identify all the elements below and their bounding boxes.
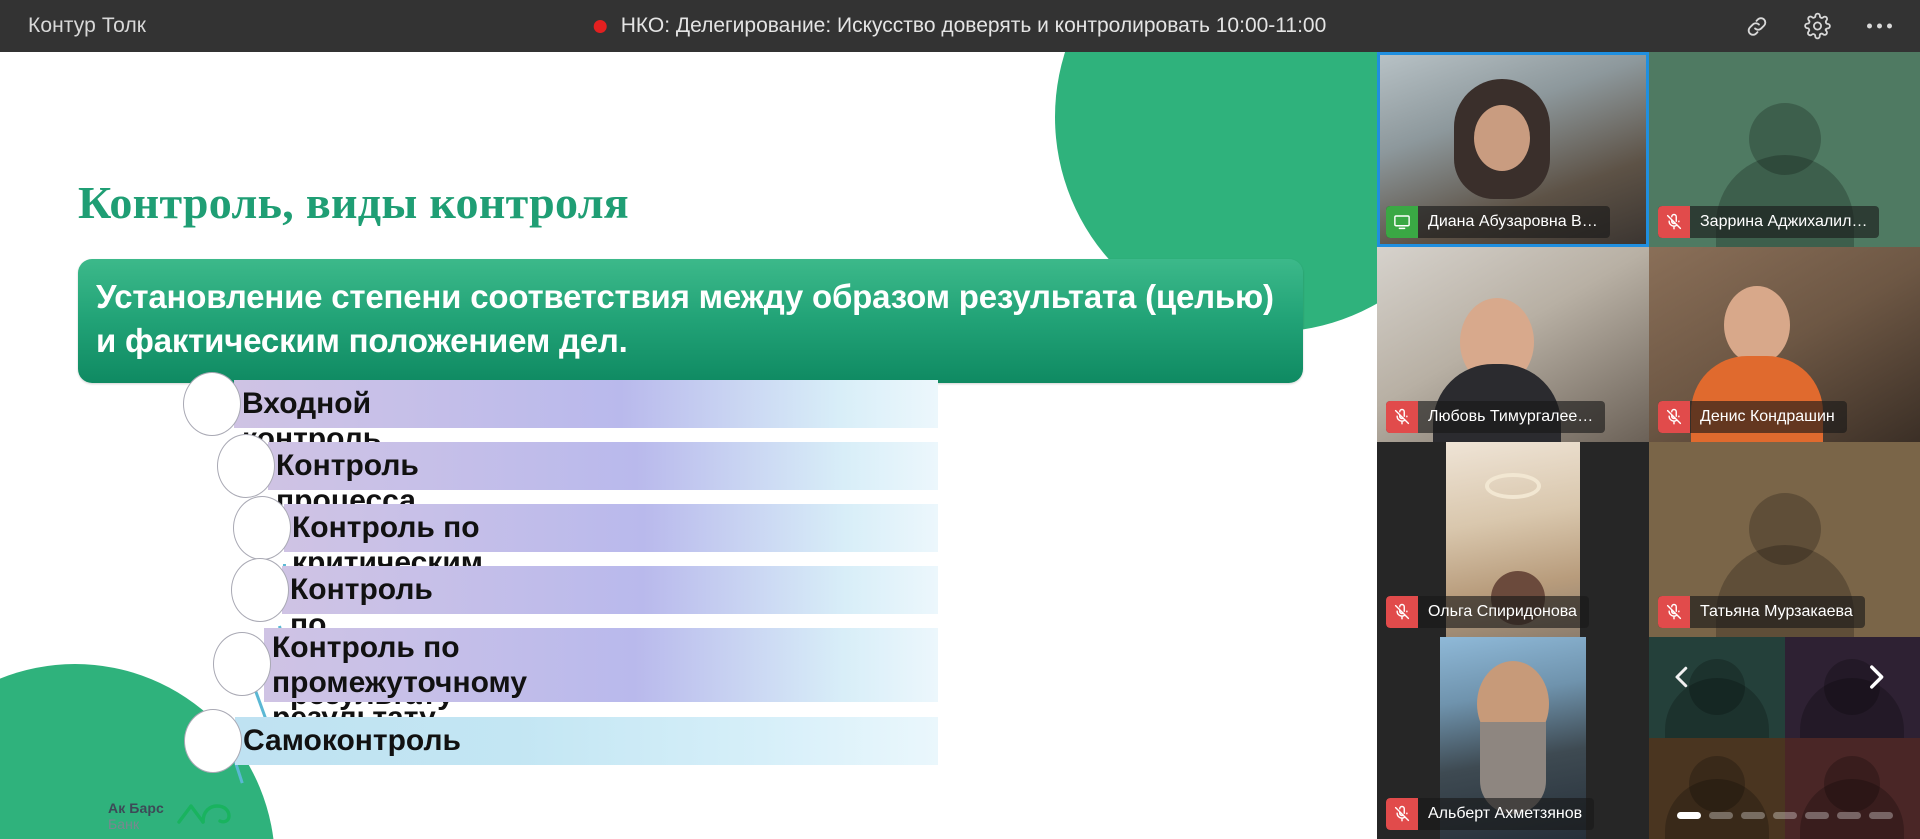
participant-tile[interactable]: Денис Кондрашин [1649,247,1920,442]
app-title: Контур Толк [28,14,146,38]
prev-page-button[interactable] [1659,654,1705,700]
participant-name: Альберт Ахметзянов [1418,805,1594,823]
akbars-bank-logo: Ак Барс Банк [108,801,232,832]
avatar-placeholder-icon [1649,738,1785,839]
participant-name: Татьяна Мурзакаева [1690,603,1865,621]
participant-name: Диана Абузаровна В… [1418,213,1610,231]
list-item-marker [233,496,291,560]
participant-namebar: Татьяна Мурзакаева [1658,596,1865,628]
participant-tile[interactable]: Ольга Спиридонова [1377,442,1649,637]
list-item-label: Самоконтроль [243,723,461,758]
mic-muted-icon [1386,401,1418,433]
participant-namebar: Денис Кондрашин [1658,401,1847,433]
chevron-left-icon [1667,662,1697,692]
page-dot[interactable] [1773,812,1797,819]
mic-muted-icon [1386,798,1418,830]
next-page-button[interactable] [1853,654,1899,700]
participant-name: Заррина Аджихалил… [1690,213,1879,231]
logo-line-2: Банк [108,817,164,832]
control-types-list: Входной контроль Контроль процесса Контр… [0,392,1377,832]
recording-dot-icon [594,20,607,33]
participant-tile[interactable]: Татьяна Мурзакаева [1649,442,1920,637]
akbars-swoosh-icon [176,801,232,832]
participant-name: Денис Кондрашин [1690,408,1847,426]
list-item-marker [184,709,242,773]
logo-line-1: Ак Барс [108,801,164,816]
participant-namebar: Альберт Ахметзянов [1386,798,1594,830]
page-dot[interactable] [1709,812,1733,819]
participant-namebar: Диана Абузаровна В… [1386,206,1610,238]
titlebar-actions [1744,13,1894,40]
chevron-right-icon [1859,660,1893,694]
mic-muted-icon [1658,401,1690,433]
slide-title: Контроль, виды контроля [78,176,629,229]
participant-name: Любовь Тимургалее… [1418,408,1605,426]
participant-name: Ольга Спиридонова [1418,603,1589,621]
more-icon[interactable] [1865,16,1894,37]
screen-share-icon [1386,206,1418,238]
definition-banner: Установление степени соответствия между … [78,259,1303,383]
participants-rail: Диана Абузаровна В… Заррина Аджихалил… Л… [1377,52,1920,839]
page-indicator[interactable] [1677,812,1893,819]
page-dot[interactable] [1805,812,1829,819]
avatar-placeholder-icon [1785,738,1920,839]
list-item-marker [231,558,289,622]
mic-muted-icon [1658,206,1690,238]
participant-namebar: Любовь Тимургалее… [1386,401,1605,433]
list-item-marker [213,632,271,696]
mic-muted-icon [1658,596,1690,628]
page-dot[interactable] [1869,812,1893,819]
participant-tile[interactable]: Любовь Тимургалее… [1377,247,1649,442]
participant-tile[interactable]: Заррина Аджихалил… [1649,52,1920,247]
gear-icon[interactable] [1804,13,1831,40]
participant-namebar: Заррина Аджихалил… [1658,206,1879,238]
list-item-marker [183,372,241,436]
meeting-title: НКО: Делегирование: Искусство доверять и… [621,14,1327,38]
participant-namebar: Ольга Спиридонова [1386,596,1589,628]
presentation-slide[interactable]: Контроль, виды контроля Установление сте… [0,52,1377,839]
definition-text: Установление степени соответствия между … [96,275,1285,362]
meeting-info: НКО: Делегирование: Искусство доверять и… [594,14,1327,38]
avatar-placeholder [1649,738,1785,839]
page-dot[interactable] [1741,812,1765,819]
participant-tile[interactable]: Альберт Ахметзянов [1377,637,1649,839]
avatar-placeholder [1785,738,1920,839]
participant-tile[interactable]: Диана Абузаровна В… [1377,52,1649,247]
app-titlebar: Контур Толк НКО: Делегирование: Искусств… [0,0,1920,52]
list-item-marker [217,434,275,498]
link-icon[interactable] [1744,13,1770,39]
mic-muted-icon [1386,596,1418,628]
page-dot[interactable] [1677,812,1701,819]
page-dot[interactable] [1837,812,1861,819]
